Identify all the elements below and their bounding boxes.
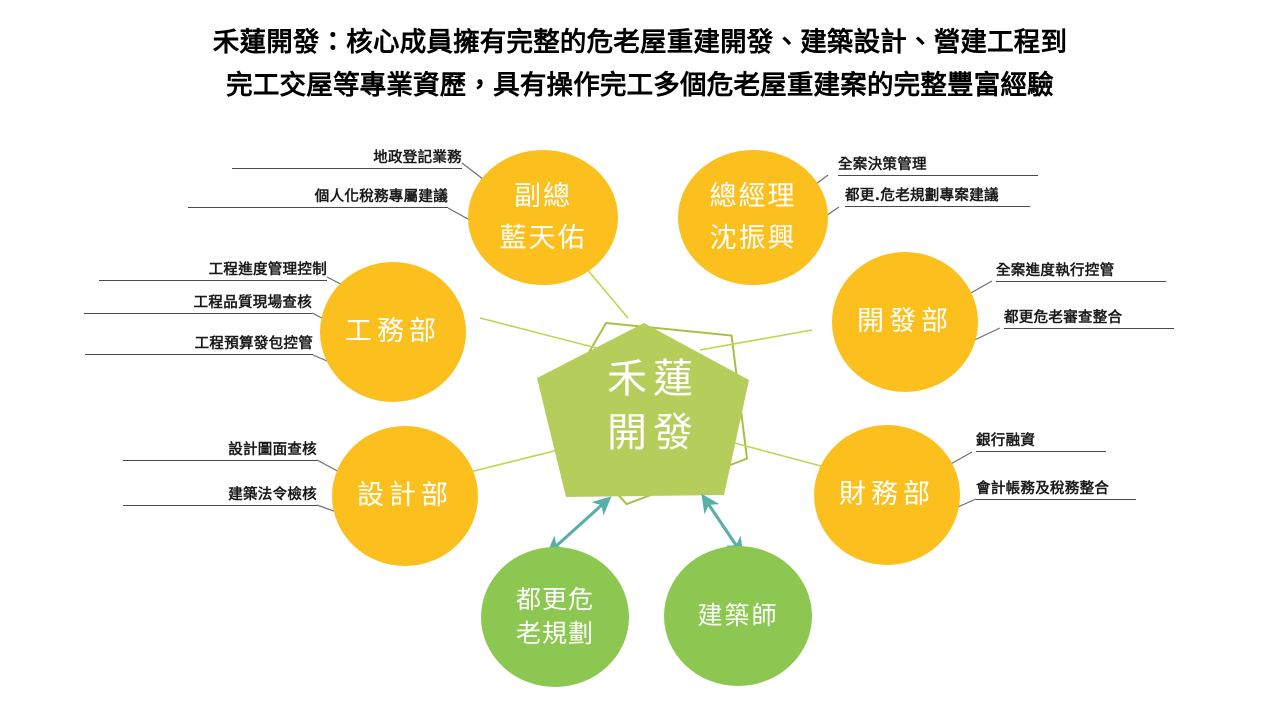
node-general-manager[interactable]: 總經理 沈振興 bbox=[678, 150, 828, 285]
caption-project-progress-control: 全案進度執行控管 bbox=[996, 263, 1166, 282]
caption-schedule-control: 工程進度管理控制 bbox=[99, 262, 327, 281]
caption-renewal-review-integration: 都更危老審查整合 bbox=[1004, 310, 1174, 329]
node-general-manager-name: 沈振興 bbox=[710, 218, 797, 259]
node-vice-president-title: 副總 bbox=[514, 176, 572, 217]
node-design-dept-label: 設計部 bbox=[357, 480, 453, 512]
caption-renewal-planning-advice: 都更.危老規劃專案建議 bbox=[845, 188, 1030, 207]
diagram-vector-layer bbox=[0, 0, 1280, 720]
caption-budget-contract-control: 工程預算發包控管 bbox=[85, 336, 313, 355]
node-architect-label: 建築師 bbox=[697, 601, 778, 631]
node-engineering-dept[interactable]: 工務部 bbox=[320, 262, 466, 402]
caption-building-code-review: 建築法令檢核 bbox=[123, 487, 317, 506]
caption-land-registration: 地政登記業務 bbox=[232, 150, 462, 169]
org-diagram: 禾蓮 開發 副總 藍天佑 總經理 沈振興 工務部 開發部 設計部 財務部 都更危… bbox=[0, 0, 1280, 720]
node-design-dept[interactable]: 設計部 bbox=[332, 426, 478, 566]
caption-decision-management: 全案決策管理 bbox=[838, 157, 1038, 176]
node-urban-renewal-planning[interactable]: 都更危 老規劃 bbox=[481, 547, 629, 687]
node-engineering-dept-label: 工務部 bbox=[345, 316, 441, 348]
node-general-manager-title: 總經理 bbox=[710, 176, 797, 217]
arrow-to-architect bbox=[707, 502, 738, 548]
pentagon-core bbox=[537, 323, 749, 497]
arrow-to-urban-renewal bbox=[554, 503, 604, 548]
caption-bank-financing: 銀行融資 bbox=[976, 433, 1106, 452]
bidirectional-arrows bbox=[554, 502, 738, 548]
node-urban-renewal-line-2: 老規劃 bbox=[516, 617, 594, 651]
node-development-dept-label: 開發部 bbox=[857, 306, 953, 338]
caption-personal-tax-advice: 個人化稅務專屬建議 bbox=[188, 189, 448, 208]
node-architect[interactable]: 建築師 bbox=[664, 546, 812, 686]
node-finance-dept-label: 財務部 bbox=[839, 479, 935, 511]
node-vice-president-name: 藍天佑 bbox=[500, 218, 587, 259]
node-finance-dept[interactable]: 財務部 bbox=[814, 425, 960, 565]
node-vice-president[interactable]: 副總 藍天佑 bbox=[468, 150, 618, 285]
caption-drawing-review: 設計圖面查核 bbox=[123, 442, 317, 461]
node-development-dept[interactable]: 開發部 bbox=[832, 252, 978, 392]
caption-accounting-tax-integration: 會計帳務及稅務整合 bbox=[976, 481, 1136, 500]
caption-quality-inspection: 工程品質現場查核 bbox=[84, 295, 312, 314]
node-urban-renewal-line-1: 都更危 bbox=[516, 583, 594, 617]
